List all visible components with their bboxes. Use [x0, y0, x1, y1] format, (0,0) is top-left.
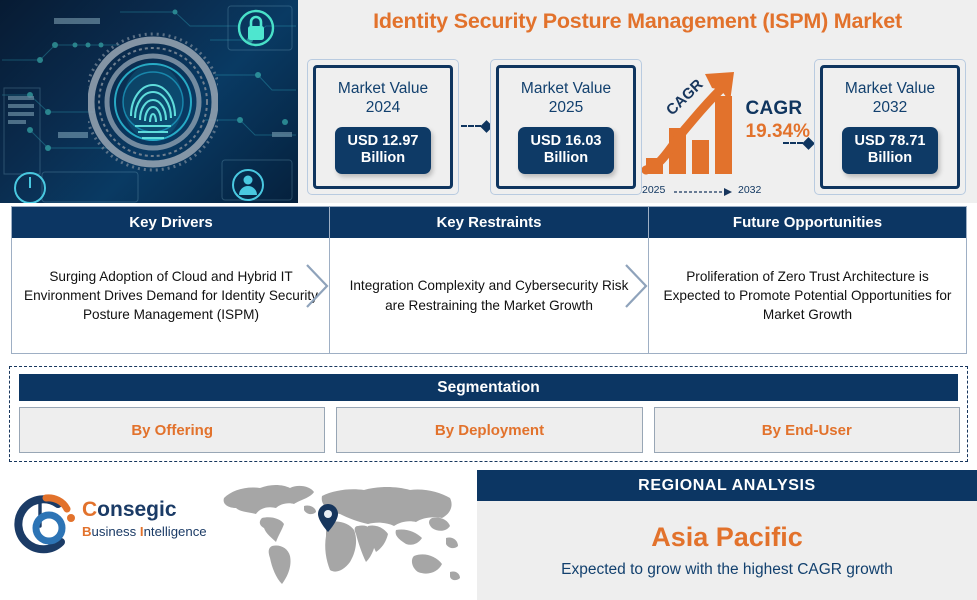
market-value-amount-2032: USD 78.71 Billion — [842, 127, 939, 174]
top-section: Identity Security Posture Management (IS… — [0, 0, 977, 203]
regional-analysis-subtitle: Expected to grow with the highest CAGR g… — [561, 561, 893, 579]
segmentation-section: Segmentation By Offering By Deployment B… — [9, 366, 968, 462]
connector-2024-2025 — [461, 120, 491, 132]
panel-text-key-drivers: Surging Adoption of Cloud and Hybrid IT … — [24, 267, 318, 325]
brand-tagline: Business Intelligence — [82, 524, 207, 539]
user-id-icon — [228, 166, 268, 203]
cagr-end-year: 2032 — [738, 184, 761, 196]
cagr-start-year: 2025 — [642, 184, 665, 196]
regional-analysis-heading: REGIONAL ANALYSIS — [477, 470, 977, 501]
panel-key-restraints: Key Restraints Integration Complexity an… — [329, 206, 649, 354]
cagr-label: CAGR — [746, 98, 810, 120]
cagr-growth-chart: CAGR 2025 2032 CAGR 19.34% — [646, 62, 814, 194]
regional-analysis-region: Asia Pacific — [651, 522, 803, 553]
padlock-icon — [232, 6, 280, 50]
market-value-label-2024: Market Value 2024 — [338, 80, 428, 118]
panel-key-drivers: Key Drivers Surging Adoption of Cloud an… — [11, 206, 331, 354]
growth-bars-arrow-icon: CAGR — [642, 66, 762, 184]
market-value-amount-2024: USD 12.97 Billion — [335, 127, 432, 174]
page-title: Identity Security Posture Management (IS… — [298, 9, 977, 34]
fingerprint-scanner-icon — [88, 26, 218, 178]
regional-analysis-panel: REGIONAL ANALYSIS Asia Pacific Expected … — [477, 470, 977, 600]
market-value-label-2025: Market Value 2025 — [521, 80, 611, 118]
hero-cybersecurity-image — [0, 0, 298, 203]
panel-text-future-opportunities: Proliferation of Zero Trust Architecture… — [661, 267, 954, 325]
consegic-logo-mark-icon — [14, 492, 78, 558]
market-value-card-2025: Market Value 2025 USD 16.03 Billion — [490, 59, 642, 195]
panel-future-opportunities: Future Opportunities Proliferation of Ze… — [648, 206, 967, 354]
market-value-label-2032: Market Value 2032 — [845, 80, 935, 118]
market-value-amount-2025: USD 16.03 Billion — [518, 127, 615, 174]
footer-section: Consegic Business Intelligence — [0, 466, 977, 600]
segmentation-item-by-offering[interactable]: By Offering — [19, 407, 325, 453]
market-dynamics-section: Key Drivers Surging Adoption of Cloud an… — [0, 206, 977, 354]
world-map — [218, 478, 462, 590]
panel-heading-key-restraints: Key Restraints — [330, 207, 648, 238]
market-value-band: Identity Security Posture Management (IS… — [298, 0, 977, 203]
segmentation-item-by-end-user[interactable]: By End-User — [654, 407, 960, 453]
connector-cagr-2032 — [783, 137, 813, 149]
infographic-page: Identity Security Posture Management (IS… — [0, 0, 977, 600]
chevron-right-icon-1 — [305, 263, 331, 309]
segmentation-item-by-deployment[interactable]: By Deployment — [336, 407, 642, 453]
panel-heading-key-drivers: Key Drivers — [12, 207, 330, 238]
brand-name: Consegic — [82, 498, 177, 522]
gauge-icon — [8, 168, 52, 203]
brand-logo[interactable]: Consegic Business Intelligence — [14, 488, 214, 560]
chevron-right-icon-2 — [624, 263, 650, 309]
segmentation-items: By Offering By Deployment By End-User — [19, 407, 960, 453]
market-value-card-2024: Market Value 2024 USD 12.97 Billion — [307, 59, 459, 195]
segmentation-heading: Segmentation — [19, 374, 958, 401]
panel-heading-future-opportunities: Future Opportunities — [649, 207, 966, 238]
market-value-card-2032: Market Value 2032 USD 78.71 Billion — [814, 59, 966, 195]
year-arrow-icon — [674, 188, 736, 196]
panel-text-key-restraints: Integration Complexity and Cybersecurity… — [342, 276, 636, 315]
